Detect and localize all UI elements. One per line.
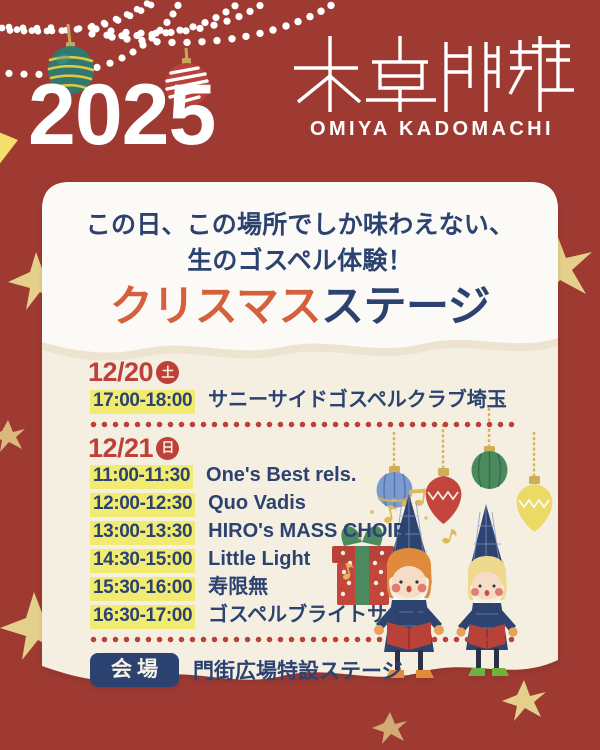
schedule-act: One's Best rels. [206,464,356,487]
logo-kanji-mark [288,32,576,112]
schedule-act: 寿限無 [208,576,268,599]
headline-line-2: 生のゴスペル体験！ [187,247,413,275]
schedule-row[interactable]: 11:00-11:30 One's Best rels. [90,464,518,489]
day-header-2: 12/21 日 [88,434,518,464]
schedule-row[interactable]: 16:30-17:00 ゴスペルブライトサイド [90,604,518,629]
schedule-row[interactable]: 12:00-12:30 Quo Vadis [90,492,518,517]
title-orange-part: クリスマス [110,283,321,331]
headline-line-1: この日、この場所でしか味わえない、 [86,211,514,239]
schedule-act: サニーサイドゴスペルクラブ埼玉 [208,389,507,412]
title-navy-part: ステージ [321,283,490,331]
main-info-card: この日、この場所でしか味わえない、 生のゴスペル体験！ クリスマスステージ 12… [42,182,558,704]
schedule-time: 12:00-12:30 [90,493,195,517]
poster-root: 2025 [0,0,600,750]
venue-label-badge: 会場 [90,653,179,687]
day-date-2: 12/21 [88,434,153,464]
schedule-act: Little Light [208,548,310,571]
schedule-row[interactable]: 17:00-18:00 サニーサイドゴスペルクラブ埼玉 [90,389,518,414]
schedule-time: 11:00-11:30 [90,465,193,489]
dotted-divider [88,636,518,643]
logo-romaji-text: OMIYA KADOMACHI [288,118,576,141]
headline-text: この日、この場所でしか味わえない、 生のゴスペル体験！ [42,208,558,279]
day-weekday-badge-1: 土 [156,361,179,384]
venue-section: 会場 門街広場特設ステージ [90,653,518,687]
schedule-time: 13:00-13:30 [90,521,195,545]
day-header-1: 12/20 土 [88,358,518,388]
poster-header: 2025 [0,0,600,180]
schedule-row[interactable]: 13:00-13:30 HIRO's MASS CHOIR [90,520,518,545]
schedule-row[interactable]: 14:30-15:00 Little Light [90,548,518,573]
omiya-kadomachi-logo: OMIYA KADOMACHI [288,32,576,141]
dotted-divider [88,421,518,428]
schedule-list: 12/20 土 17:00-18:00 サニーサイドゴスペルクラブ埼玉 12/2… [88,358,518,687]
day-weekday-badge-2: 日 [156,437,179,460]
schedule-row[interactable]: 15:30-16:00 寿限無 [90,576,518,601]
schedule-act: ゴスペルブライトサイド [208,604,427,627]
schedule-time: 17:00-18:00 [90,390,195,414]
schedule-time: 14:30-15:00 [90,549,195,573]
year-text: 2025 [28,72,215,158]
schedule-time: 16:30-17:00 [90,605,195,629]
venue-name-text: 門街広場特設ステージ [193,655,403,685]
day-date-1: 12/20 [88,358,153,388]
schedule-time: 15:30-16:00 [90,577,195,601]
schedule-act: HIRO's MASS CHOIR [208,520,407,543]
schedule-act: Quo Vadis [208,492,306,515]
page-title: クリスマスステージ [42,286,558,329]
